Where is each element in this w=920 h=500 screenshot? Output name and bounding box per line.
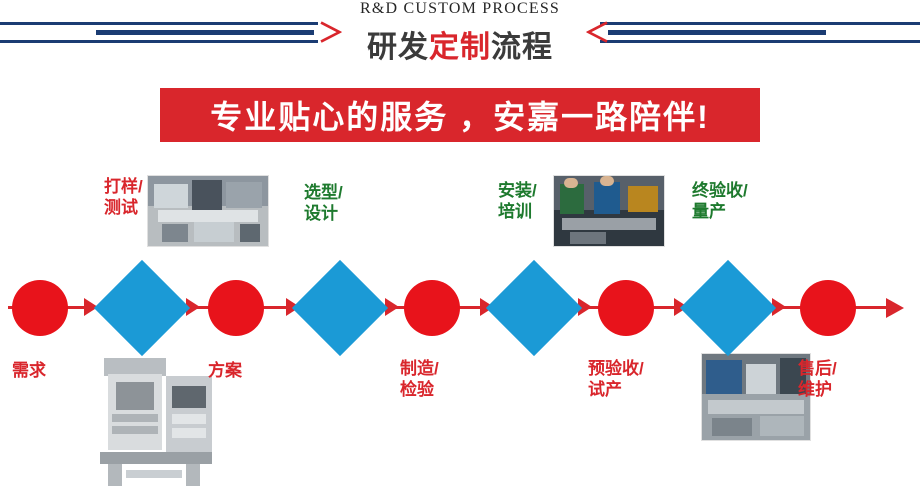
- photo-prototype-test: [148, 176, 268, 246]
- process-diagram-page: ＞ ＜ R&D CUSTOM PROCESS 研发定制流程 专业贴心的服务 ，安…: [0, 0, 920, 500]
- flow-node-1-shape[interactable]: [12, 280, 68, 336]
- flow-node-9-label: 售后/ 维护: [798, 358, 868, 400]
- photo-installation-training: [554, 176, 664, 246]
- flow-node-4-shape[interactable]: [292, 260, 388, 356]
- photo-machine-cabinet: [82, 352, 222, 490]
- flow-node-5-label: 制造/ 检验: [400, 358, 470, 400]
- flow-node-2-label: 打样/ 测试: [104, 176, 164, 218]
- flow-node-9-shape[interactable]: [800, 280, 856, 336]
- flow-node-7-shape[interactable]: [598, 280, 654, 336]
- header-chinese-accent: 定制: [429, 31, 491, 64]
- flow-node-2-shape[interactable]: [94, 260, 190, 356]
- page-header: ＞ ＜ R&D CUSTOM PROCESS 研发定制流程: [0, 0, 920, 62]
- header-english-title: R&D CUSTOM PROCESS: [0, 0, 920, 18]
- flow-axis-arrowhead: [886, 298, 904, 318]
- flow-node-8-shape[interactable]: [680, 260, 776, 356]
- header-chinese-title: 研发定制流程: [0, 22, 920, 66]
- flow-node-6-shape[interactable]: [486, 260, 582, 356]
- flow-node-5-shape[interactable]: [404, 280, 460, 336]
- header-chinese-prefix: 研发: [367, 31, 429, 64]
- flow-node-3-label: 方案: [208, 360, 278, 381]
- photo-final-acceptance: [702, 354, 810, 440]
- flow-node-3-shape[interactable]: [208, 280, 264, 336]
- slogan-banner: 专业贴心的服务 ，安嘉一路陪伴!: [160, 88, 760, 142]
- slogan-text: 专业贴心的服务 ，安嘉一路陪伴!: [210, 92, 710, 138]
- flow-node-6-label: 安装/ 培训: [498, 180, 558, 222]
- flow-node-1-label: 需求: [12, 360, 82, 381]
- flow-node-4-label: 选型/ 设计: [304, 182, 364, 224]
- header-chinese-suffix: 流程: [491, 31, 553, 64]
- flow-node-7-label: 预验收/ 试产: [588, 358, 674, 400]
- flow-node-8-label: 终验收/ 量产: [692, 180, 766, 222]
